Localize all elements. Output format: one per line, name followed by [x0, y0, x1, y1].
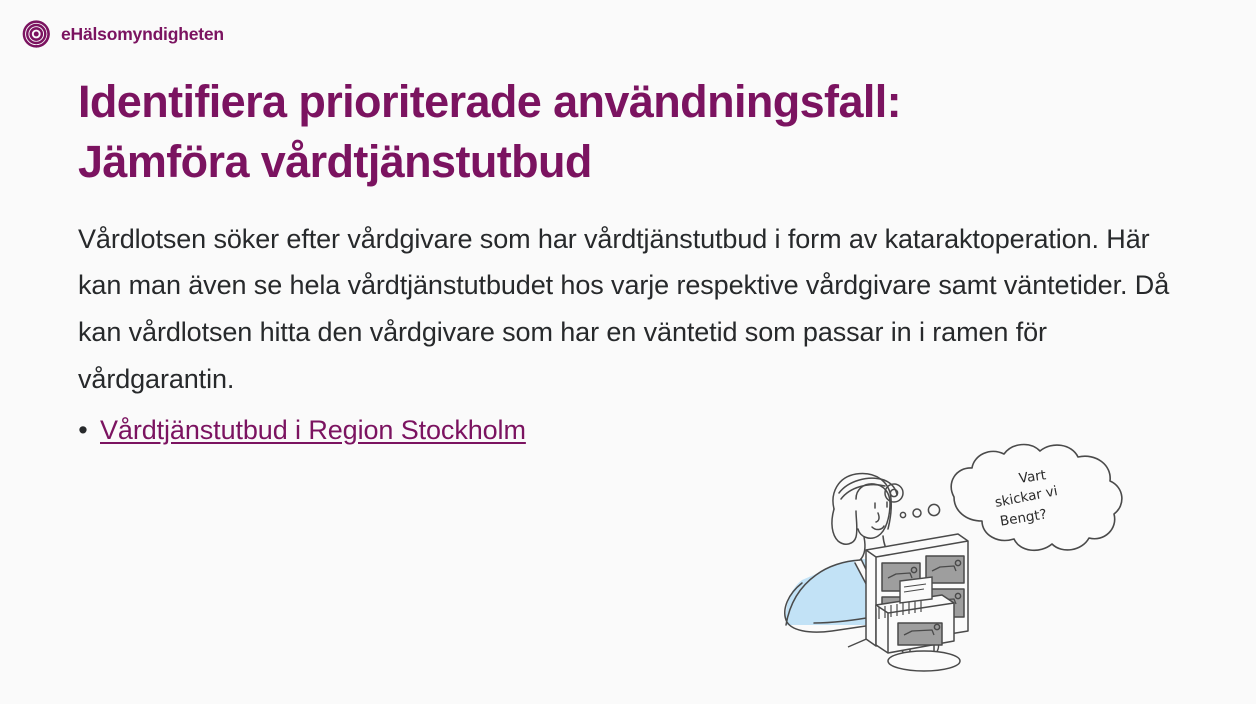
brand-logo: eHälsomyndigheten — [22, 19, 224, 49]
page-title: Identifiera prioriterade användningsfall… — [78, 72, 1183, 192]
spiral-swirl-logo-icon — [22, 19, 52, 49]
body-paragraph: Vårdlotsen söker efter vårdgivare som ha… — [78, 216, 1173, 403]
thought-dots — [900, 504, 939, 517]
thought-bubble: Vart skickar vi Bengt? — [951, 445, 1122, 551]
illustration-nurse-at-computer: Vart skickar vi Bengt? — [728, 437, 1148, 682]
link-vardtjanstutbud-region-stockholm[interactable]: Vårdtjänstutbud i Region Stockholm — [100, 410, 526, 452]
bullet-marker: • — [78, 410, 88, 452]
monitor-with-file-drawers — [866, 534, 968, 671]
page-title-line-1: Identifiera prioriterade användningsfall… — [78, 72, 1183, 132]
brand-name: eHälsomyndigheten — [61, 24, 224, 45]
slide-content: Identifiera prioriterade användningsfall… — [78, 72, 1183, 451]
page-title-line-2: Jämföra vårdtjänstutbud — [78, 132, 1183, 192]
